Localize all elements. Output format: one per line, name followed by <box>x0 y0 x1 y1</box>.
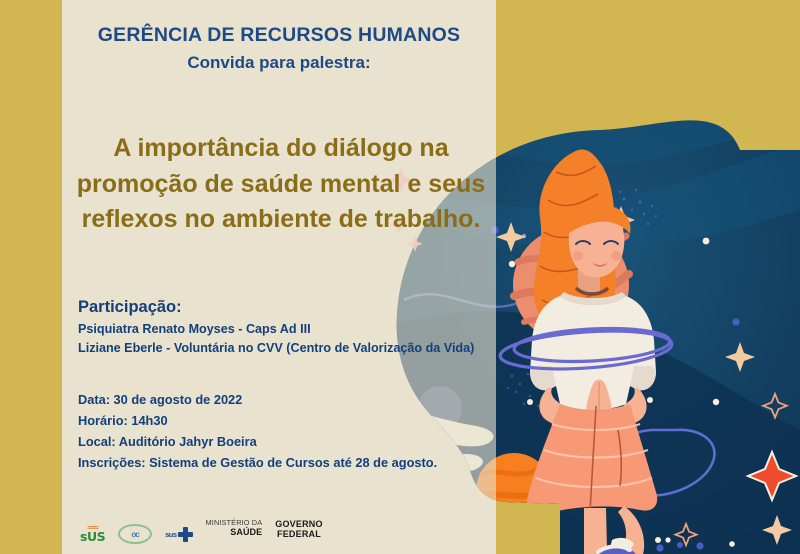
text-column: GERÊNCIA DE RECURSOS HUMANOS Convida par… <box>62 0 496 554</box>
medical-cross-icon <box>178 527 193 542</box>
oc-logo: oc <box>118 519 152 549</box>
governo-federal-logo: GOVERNO FEDERAL <box>275 519 322 549</box>
speaker-1: Psiquiatra Renato Moyses - Caps Ad III <box>78 320 498 338</box>
ministerio-saude-logo: MINISTÉRIO DA SAÚDE <box>206 519 263 549</box>
lecture-title: A importância do diálogo na promoção de … <box>68 131 494 238</box>
invite-subtitle: Convida para palestra: <box>62 53 496 73</box>
ministerio-line-2: SAÚDE <box>230 527 262 537</box>
sus-cross-text: sus <box>165 530 176 539</box>
event-details-block: Data: 30 de agosto de 2022 Horário: 14h3… <box>78 390 498 473</box>
sus-logo: ≈≈≈ sUS <box>80 519 105 549</box>
governo-line-2: FEDERAL <box>277 529 321 539</box>
org-title: GERÊNCIA DE RECURSOS HUMANOS <box>62 24 496 47</box>
poster-root: GERÊNCIA DE RECURSOS HUMANOS Convida par… <box>0 0 800 554</box>
detail-registration: Inscrições: Sistema de Gestão de Cursos … <box>78 453 498 474</box>
detail-date: Data: 30 de agosto de 2022 <box>78 390 498 411</box>
participation-block: Participação: Psiquiatra Renato Moyses -… <box>78 296 498 357</box>
header-block: GERÊNCIA DE RECURSOS HUMANOS Convida par… <box>62 24 496 73</box>
participation-heading: Participação: <box>78 296 498 318</box>
detail-time: Horário: 14h30 <box>78 411 498 432</box>
logo-strip: ≈≈≈ sUS oc sus MINISTÉRIO DA SAÚDE GOVER… <box>80 518 500 550</box>
sus-cross-logo: sus <box>165 519 192 549</box>
sus-logo-text: sUS <box>80 531 105 544</box>
speaker-2: Liziane Eberle - Voluntária no CVV (Cent… <box>78 339 498 357</box>
detail-location: Local: Auditório Jahyr Boeira <box>78 432 498 453</box>
governo-line-1: GOVERNO <box>275 519 322 529</box>
oc-logo-mark: oc <box>118 524 152 544</box>
